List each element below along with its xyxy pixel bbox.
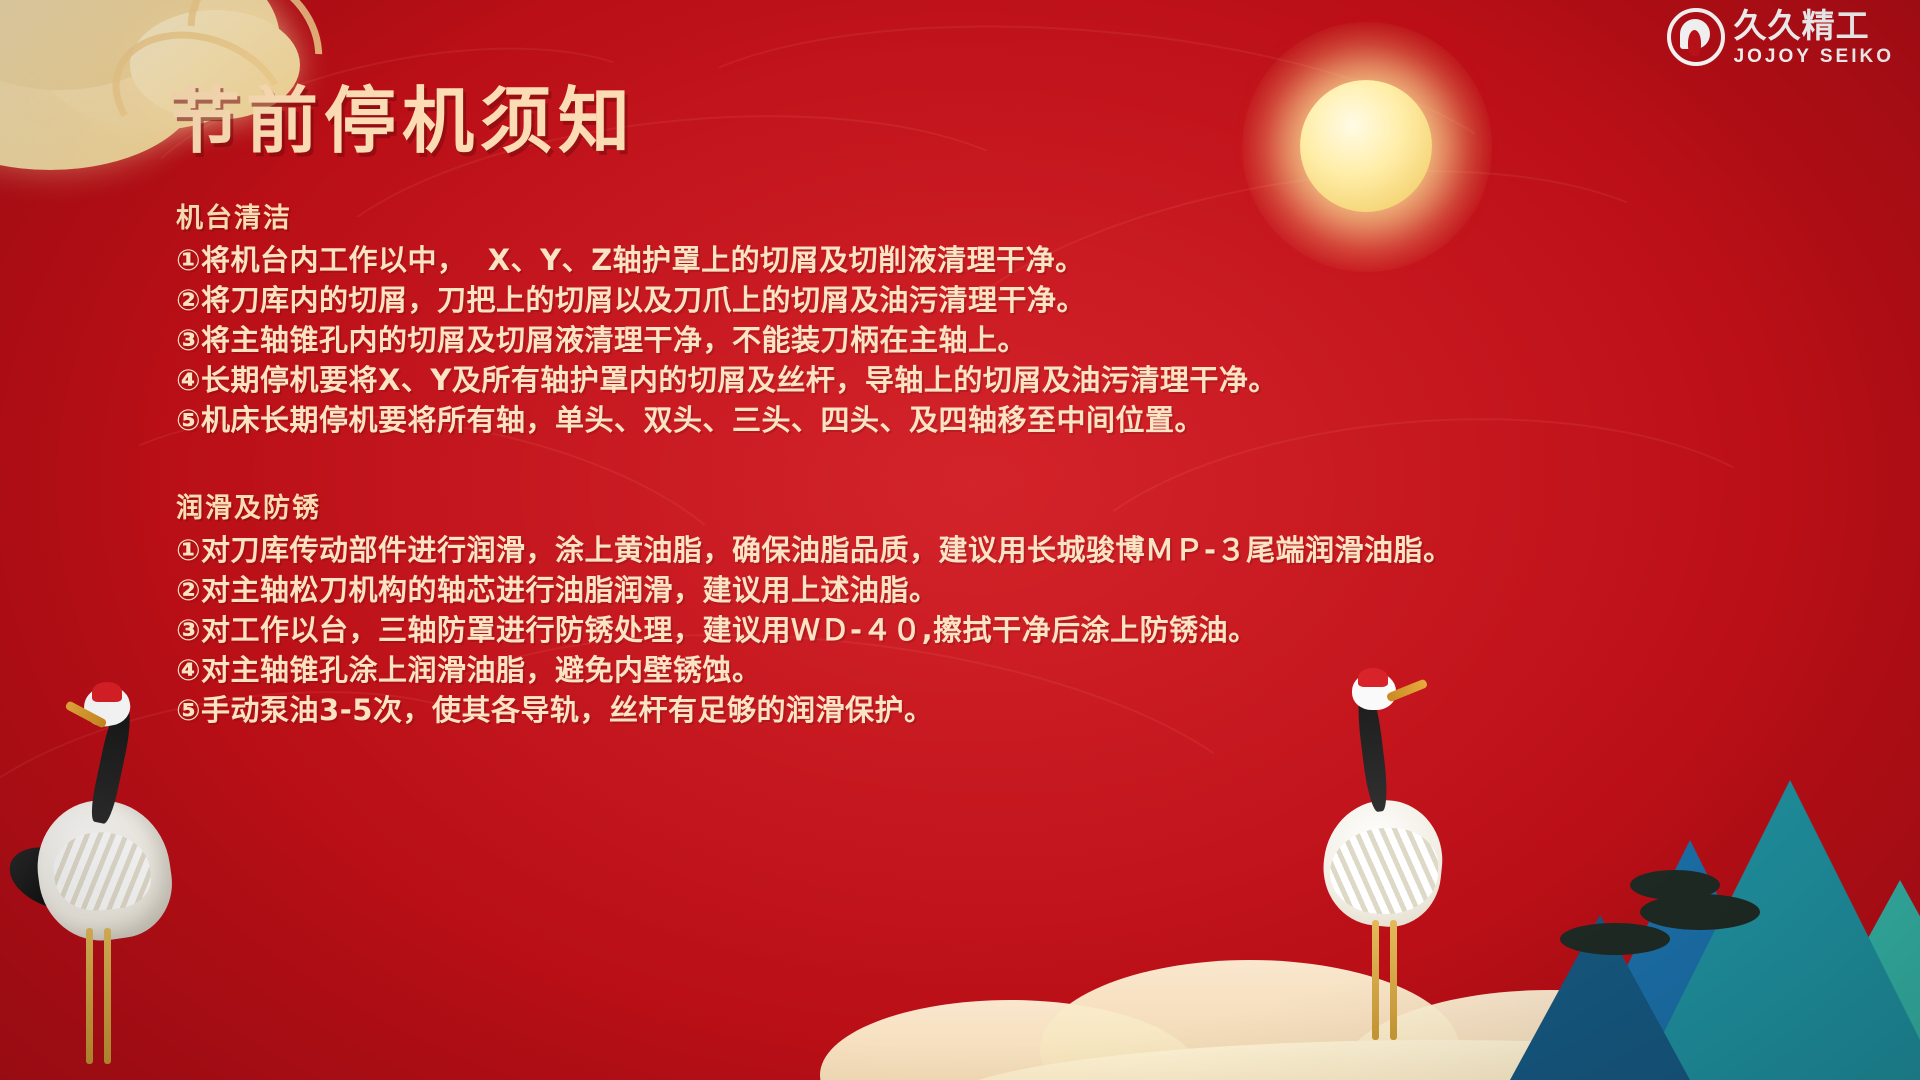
crane-left-icon bbox=[8, 680, 238, 1080]
list-item: ②将刀库内的切屑，刀把上的切屑以及刀爪上的切屑及油污清理干净。 bbox=[176, 280, 1736, 320]
list-item: ①对刀库传动部件进行润滑，涂上黄油脂，确保油脂品质，建议用长城骏博ＭＰ-３尾端润… bbox=[176, 530, 1736, 570]
notice-content: 机台清洁 ①将机台内工作以中， X、Y、Z轴护罩上的切屑及切削液清理干净。 ②将… bbox=[176, 196, 1736, 730]
list-item: ①将机台内工作以中， X、Y、Z轴护罩上的切屑及切削液清理干净。 bbox=[176, 240, 1736, 280]
full-moon-icon bbox=[1300, 80, 1432, 212]
list-item: ③将主轴锥孔内的切屑及切屑液清理干净，不能装刀柄在主轴上。 bbox=[176, 320, 1736, 360]
brand-logo: 久久精工 JOJOY SEIKO bbox=[1667, 8, 1894, 66]
list-item: ②对主轴松刀机构的轴芯进行油脂润滑，建议用上述油脂。 bbox=[176, 570, 1736, 610]
crane-right-icon bbox=[1300, 670, 1490, 1010]
circular-bird-emblem-icon bbox=[1667, 8, 1725, 66]
page-title: 节前停机须知 bbox=[168, 62, 636, 167]
section-heading: 机台清洁 bbox=[176, 196, 1736, 235]
logo-chinese-name: 久久精工 bbox=[1734, 9, 1894, 42]
list-item: ⑤机床长期停机要将所有轴，单头、双头、三头、四头、及四轴移至中间位置。 bbox=[176, 400, 1736, 440]
list-item: ④长期停机要将X、Y及所有轴护罩内的切屑及丝杆，导轴上的切屑及油污清理干净。 bbox=[176, 360, 1736, 400]
list-item: ③对工作以台，三轴防罩进行防锈处理，建议用ＷＤ-４０,擦拭干净后涂上防锈油。 bbox=[176, 610, 1736, 650]
logo-english-name: JOJOY SEIKO bbox=[1734, 47, 1894, 66]
section-heading: 润滑及防锈 bbox=[176, 486, 1736, 525]
section-machine-cleaning: 机台清洁 ①将机台内工作以中， X、Y、Z轴护罩上的切屑及切削液清理干净。 ②将… bbox=[176, 196, 1736, 440]
poster-canvas: 久久精工 JOJOY SEIKO 节前停机须知 机台清洁 ①将机台内工作以中， … bbox=[0, 0, 1920, 1080]
